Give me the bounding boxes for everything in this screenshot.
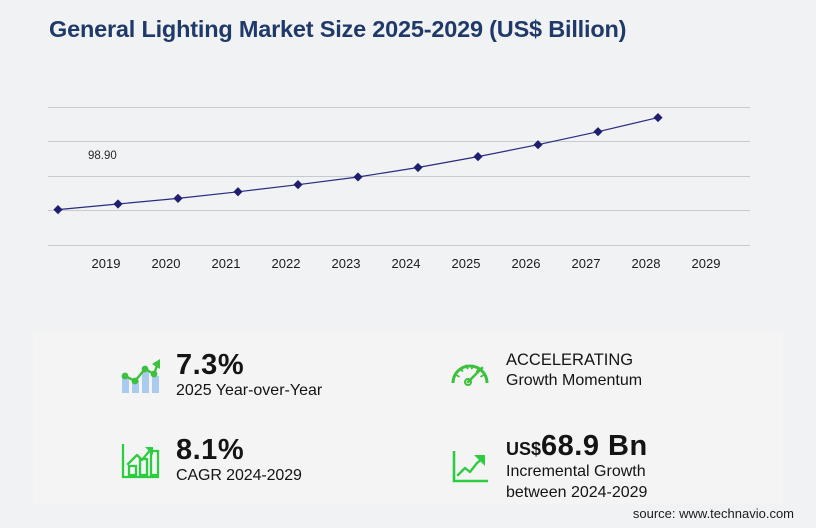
data-point-2027 <box>533 140 542 149</box>
data-point-2023 <box>293 180 302 189</box>
speedometer-icon <box>448 351 492 391</box>
stat-label-cagr: CAGR 2024-2029 <box>176 466 302 487</box>
data-point-2022 <box>233 187 242 196</box>
x-tick-2027: 2027 <box>572 256 601 271</box>
stat-card-incremental-growth: US$68.9 Bn Incremental Growth between 20… <box>448 431 648 504</box>
data-point-2025 <box>413 163 422 172</box>
data-point-2026 <box>473 152 482 161</box>
line-chart-arrow-icon <box>448 447 492 487</box>
stat-text: 8.1% CAGR 2024-2029 <box>176 435 302 487</box>
stats-panel: 7.3% 2025 Year-over-Year ACCELERA <box>33 332 783 504</box>
stat-value-incremental: US$68.9 Bn <box>506 431 648 462</box>
stat-unit-usd: US$ <box>506 439 541 459</box>
stat-amount: 68.9 Bn <box>541 430 648 462</box>
bar-line-growth-icon <box>118 356 162 396</box>
line-chart: 98.90 <box>48 100 750 248</box>
x-tick-2026: 2026 <box>512 256 541 271</box>
data-point-2021 <box>173 194 182 203</box>
x-tick-2022: 2022 <box>272 256 301 271</box>
stat-text: US$68.9 Bn Incremental Growth between 20… <box>506 431 648 504</box>
data-point-2029 <box>653 113 662 122</box>
x-tick-2028: 2028 <box>632 256 661 271</box>
stat-card-cagr: 8.1% CAGR 2024-2029 <box>118 435 302 487</box>
stat-head-momentum: ACCELERATING <box>506 350 642 371</box>
series-markers <box>53 113 662 214</box>
x-tick-2025: 2025 <box>452 256 481 271</box>
stat-text: ACCELERATING Growth Momentum <box>506 350 642 391</box>
x-tick-2023: 2023 <box>332 256 361 271</box>
stat-label-incremental-line2: between 2024-2029 <box>506 483 648 504</box>
stat-label-yoy: 2025 Year-over-Year <box>176 381 322 402</box>
stat-value-yoy: 7.3% <box>176 350 322 381</box>
data-label-2019: 98.90 <box>88 150 117 162</box>
bar-chart-arrow-icon <box>118 441 162 481</box>
x-tick-2021: 2021 <box>212 256 241 271</box>
source-attribution: source: www.technavio.com <box>633 506 794 521</box>
x-tick-2029: 2029 <box>692 256 721 271</box>
x-tick-2024: 2024 <box>392 256 421 271</box>
data-point-2028 <box>593 127 602 136</box>
stat-label-incremental-line1: Incremental Growth <box>506 462 648 483</box>
data-point-2020 <box>113 199 122 208</box>
data-point-2024 <box>353 172 362 181</box>
stat-value-cagr: 8.1% <box>176 435 302 466</box>
chart-plot-svg <box>48 100 750 248</box>
x-tick-2020: 2020 <box>152 256 181 271</box>
page-title: General Lighting Market Size 2025-2029 (… <box>49 16 626 43</box>
stat-card-yoy: 7.3% 2025 Year-over-Year <box>118 350 322 402</box>
stat-text: 7.3% 2025 Year-over-Year <box>176 350 322 402</box>
stat-label-momentum: Growth Momentum <box>506 371 642 392</box>
series-line <box>58 118 658 210</box>
x-tick-2019: 2019 <box>92 256 121 271</box>
stat-card-momentum: ACCELERATING Growth Momentum <box>448 350 642 391</box>
data-point-2019 <box>53 205 62 214</box>
chart-x-axis: 2019 2020 2021 2022 2023 2024 2025 2026 … <box>48 256 750 276</box>
